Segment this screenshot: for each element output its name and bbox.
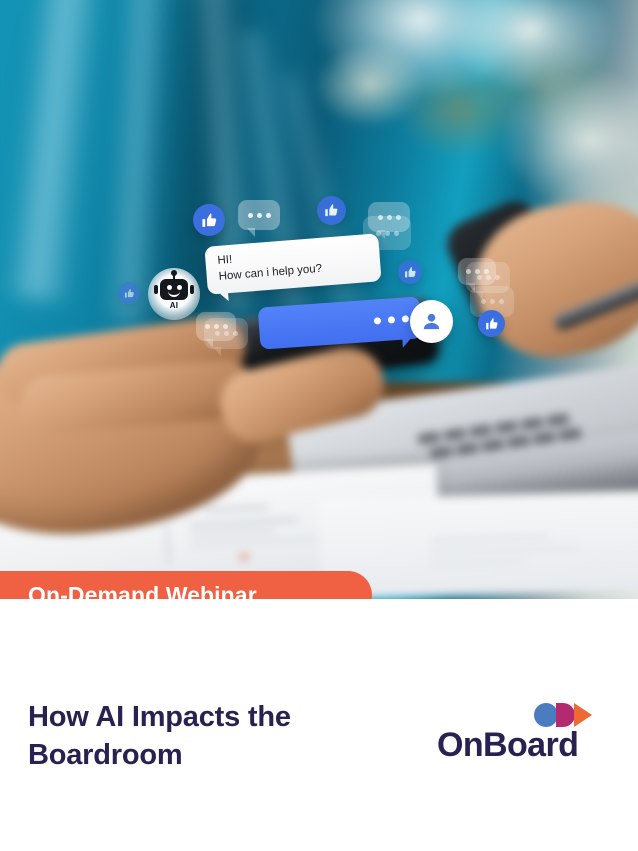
bubble-dot: [257, 213, 262, 218]
bubble-dot: [266, 213, 271, 218]
logo-triangle-shape: [574, 703, 592, 727]
thumbs-up-icon: [398, 260, 422, 284]
page-title: How AI Impacts the Boardroom: [28, 698, 408, 775]
badge-label: On-Demand Webinar: [28, 582, 257, 600]
typing-dot: [402, 315, 409, 322]
bubble-dot: [248, 213, 253, 218]
hero-photo: AI HI! How can i help you?: [0, 0, 638, 599]
on-demand-webinar-badge: On-Demand Webinar: [0, 571, 372, 599]
bubble-dot: [481, 299, 486, 304]
typing-dot: [374, 317, 381, 324]
ai-assistant-badge: AI: [148, 268, 200, 320]
logo-circle-shape: [534, 703, 558, 727]
assistant-message-bubble: HI! How can i help you?: [204, 233, 381, 295]
logo-half-round-shape: [556, 703, 575, 727]
chat-bubble-icon: [238, 200, 280, 230]
bubble-dot: [394, 231, 399, 236]
ai-badge-label: AI: [170, 302, 179, 310]
bubble-dot: [486, 275, 491, 280]
user-message-bubble: [258, 296, 423, 349]
bubble-dot: [224, 331, 229, 336]
thumbs-up-icon: [193, 204, 225, 236]
bubble-dot: [490, 299, 495, 304]
footer: How AI Impacts the Boardroom OnBoard: [0, 599, 638, 851]
thumbs-up-icon: [478, 310, 505, 337]
bubble-dot: [215, 331, 220, 336]
bubble-dot: [477, 275, 482, 280]
bubble-dot: [499, 299, 504, 304]
webinar-promo-page: AI HI! How can i help you?: [0, 0, 638, 851]
bubble-dot: [385, 231, 390, 236]
onboard-wordmark: OnBoard: [437, 728, 578, 762]
ai-chat-overlay: AI HI! How can i help you?: [0, 0, 638, 599]
robot-antenna: [173, 273, 175, 279]
typing-dot: [388, 316, 395, 323]
chat-bubble-icon: [204, 318, 248, 349]
user-avatar-icon: [410, 300, 453, 343]
thumbs-up-icon: [317, 196, 346, 225]
onboard-logo: OnBoard: [437, 702, 597, 774]
bubble-dot: [233, 331, 238, 336]
bubble-dot: [376, 231, 381, 236]
bubble-dot: [495, 275, 500, 280]
thumbs-up-icon: [118, 282, 140, 304]
robot-mouth: [168, 290, 180, 297]
robot-icon: [160, 279, 188, 300]
onboard-logo-mark: [534, 702, 594, 728]
